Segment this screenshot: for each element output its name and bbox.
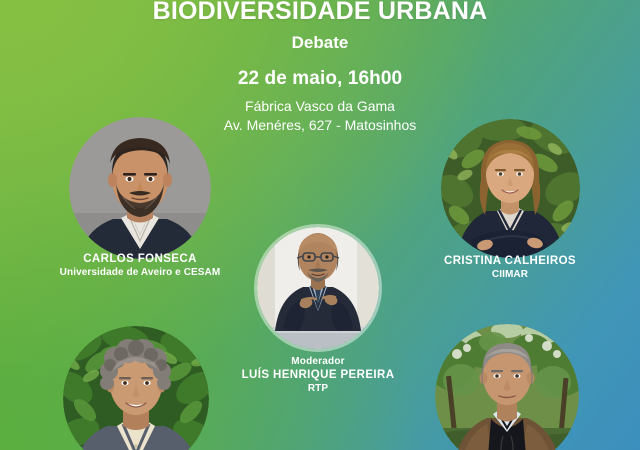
speaker-org-cristina-calheiros: CIIMAR [390, 268, 630, 281]
portrait-luis-henrique-pereira [257, 227, 379, 349]
speaker-name-cristina-calheiros: CRISTINA CALHEIROS [390, 254, 630, 268]
photo-luis-henrique-pereira [257, 227, 379, 349]
event-venue: Fábrica Vasco da Gama [0, 97, 640, 116]
photo-speaker-bottom-right [435, 324, 579, 450]
speaker-name-luis-henrique-pereira: LUÍS HENRIQUE PEREIRA [218, 368, 418, 382]
portrait-cristina-calheiros [441, 119, 580, 258]
poster-subtitle: Debate [0, 32, 640, 54]
photo-cristina-calheiros [441, 119, 580, 258]
photo-carlos-fonseca [69, 117, 211, 259]
page-title: BIODIVERSIDADE URBANA [0, 0, 640, 26]
poster-header: BIODIVERSIDADE URBANA Debate 22 de maio,… [0, 0, 640, 135]
speaker-name-carlos-fonseca: CARLOS FONSECA [20, 252, 260, 266]
photo-speaker-bottom-left [63, 326, 209, 450]
portrait-speaker-bottom-right [435, 324, 579, 450]
caption-luis-henrique-pereira: Moderador LUÍS HENRIQUE PEREIRA RTP [218, 355, 418, 395]
speaker-org-carlos-fonseca: Universidade de Aveiro e CESAM [20, 266, 260, 279]
portrait-carlos-fonseca [69, 117, 211, 259]
caption-carlos-fonseca: CARLOS FONSECA Universidade de Aveiro e … [20, 252, 260, 279]
portrait-speaker-bottom-left [63, 326, 209, 450]
speaker-org-luis-henrique-pereira: RTP [218, 382, 418, 395]
event-poster: BIODIVERSIDADE URBANA Debate 22 de maio,… [0, 0, 640, 450]
caption-cristina-calheiros: CRISTINA CALHEIROS CIIMAR [390, 254, 630, 281]
speaker-role-moderator: Moderador [218, 355, 418, 368]
event-datetime: 22 de maio, 16h00 [0, 67, 640, 91]
